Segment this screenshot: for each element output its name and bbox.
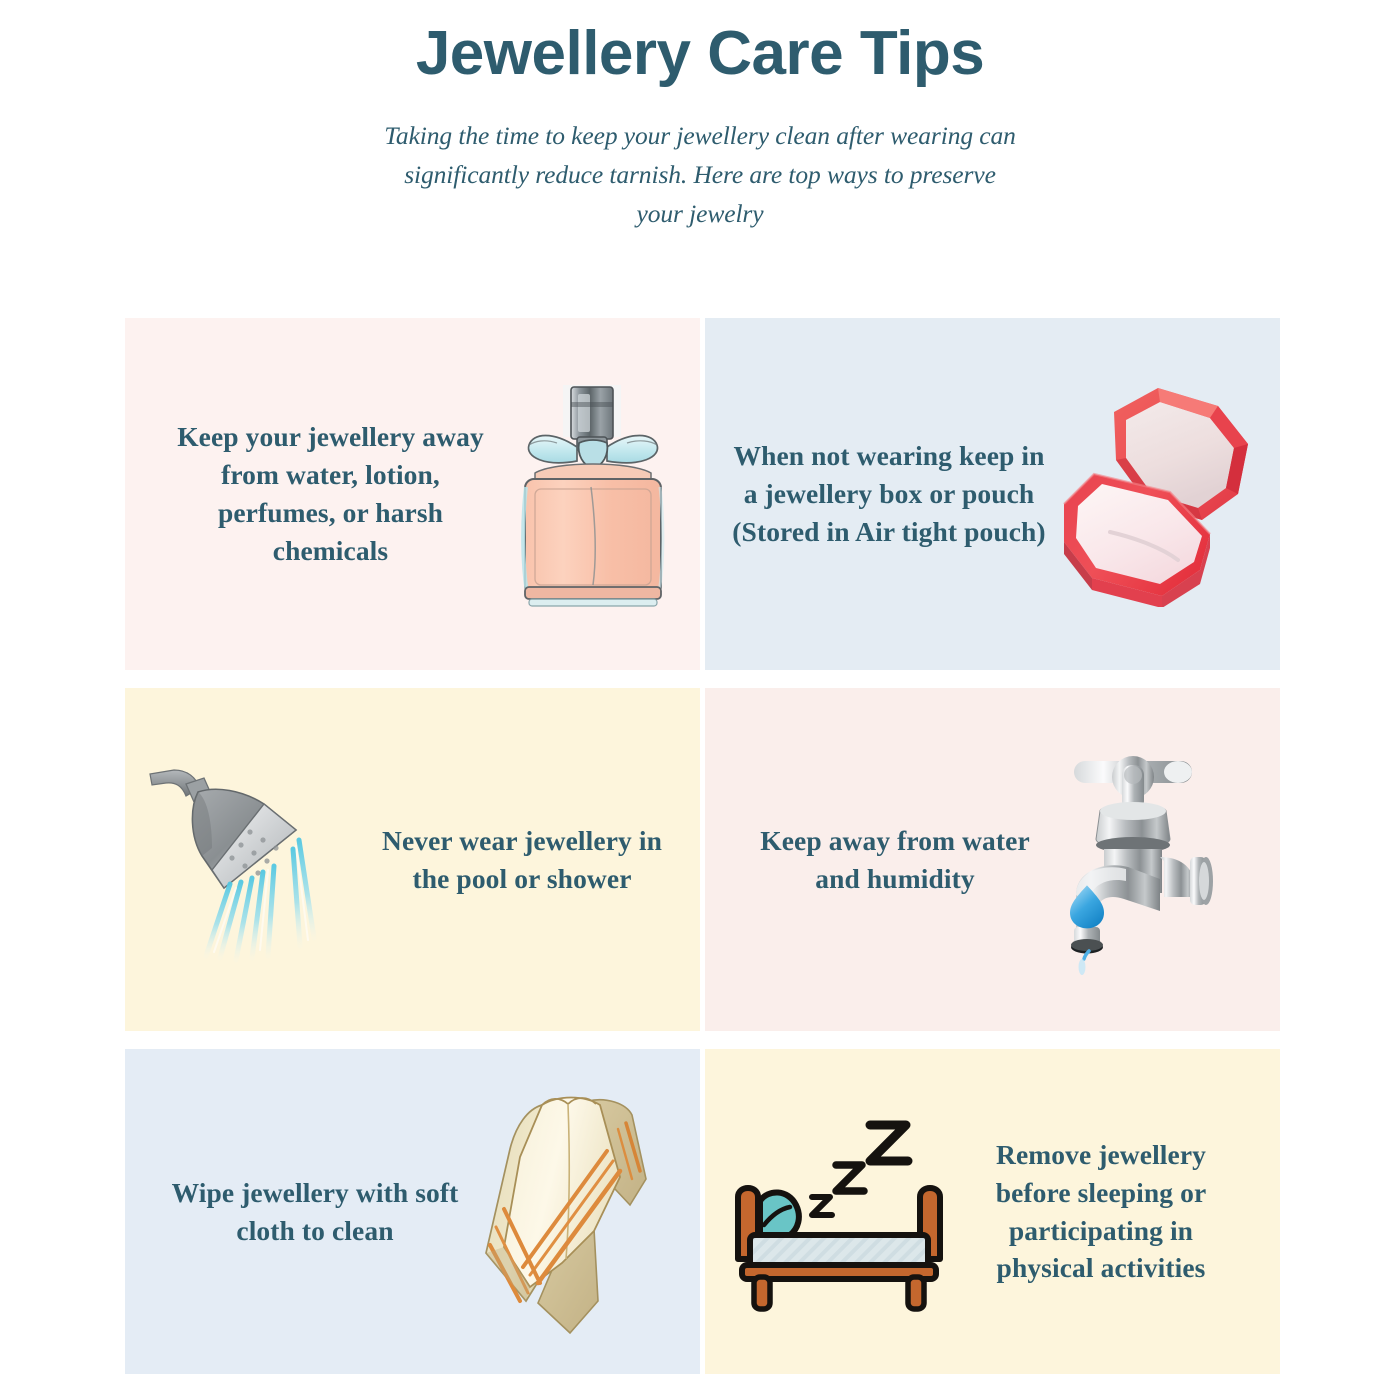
tip-card-faucet: Keep away from water and humidity — [705, 688, 1280, 1031]
infographic-page: Jewellery Care Tips Taking the time to k… — [0, 0, 1400, 1400]
tip-card-text: Keep away from water and humidity — [755, 822, 1035, 898]
tip-card-text: Remove jewellery before sleeping or part… — [962, 1136, 1240, 1288]
tip-card-text: Never wear jewellery in the pool or show… — [372, 822, 672, 898]
header: Jewellery Care Tips Taking the time to k… — [0, 0, 1400, 234]
tip-card-art — [715, 1049, 962, 1374]
tip-card-ring-box: When not wearing keep in a jewellery box… — [705, 318, 1280, 670]
tip-card-text: Keep your jewellery away from water, lot… — [163, 418, 498, 570]
page-subtitle: Taking the time to keep your jewellery c… — [380, 117, 1020, 233]
tip-card-art — [1049, 318, 1270, 670]
tip-card-perfume: Keep your jewellery away from water, lot… — [125, 318, 700, 670]
shower-head-icon — [146, 752, 361, 967]
ring-box-icon — [1052, 382, 1267, 607]
cleaning-cloth-icon — [480, 1087, 665, 1337]
bed-sleep-icon — [724, 1109, 954, 1314]
tip-card-text: When not wearing keep in a jewellery box… — [729, 437, 1049, 551]
tip-card-art — [498, 318, 686, 670]
tip-card-shower: Never wear jewellery in the pool or show… — [125, 688, 700, 1031]
faucet-drip-icon — [1052, 745, 1237, 975]
tip-card-art — [135, 688, 372, 1031]
tip-card-cloth: Wipe jewellery with soft cloth to clean — [125, 1049, 700, 1374]
tip-card-text: Wipe jewellery with soft cloth to clean — [165, 1174, 465, 1250]
tip-card-art — [1035, 688, 1254, 1031]
page-title: Jewellery Care Tips — [0, 18, 1400, 89]
tip-card-art — [465, 1049, 680, 1374]
perfume-bottle-icon — [505, 369, 680, 619]
tip-card-bed: Remove jewellery before sleeping or part… — [705, 1049, 1280, 1374]
tips-grid: Keep your jewellery away from water, lot… — [125, 318, 1275, 1356]
